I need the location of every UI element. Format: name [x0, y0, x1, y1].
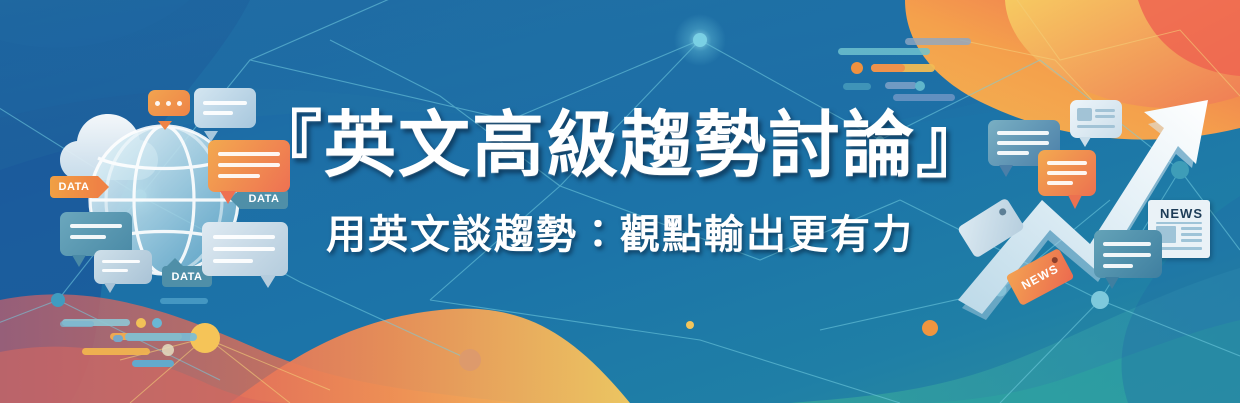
data-tag-bottom-label: DATA [172, 271, 203, 283]
speech-bubble-light-bottom [202, 222, 288, 276]
speech-bubble-orange-large [208, 140, 290, 192]
speech-bubble-dots [148, 90, 190, 116]
news-tag-label: NEWS [1019, 261, 1061, 292]
global-data-illustration: DATA DATA DATA [32, 84, 300, 316]
data-tag-left: DATA [50, 176, 98, 198]
data-tag-left-point [98, 176, 109, 198]
data-tag-right-label: DATA [249, 193, 280, 205]
speech-bubble-light-top [194, 88, 256, 128]
trend-news-illustration: NEWS NEWS [952, 82, 1240, 320]
speech-bubble-small-left [94, 250, 152, 284]
speech-bubble-orange-mid [1038, 150, 1096, 196]
data-tag-bottom-point [166, 258, 184, 267]
speech-bubble-teal-lower [1094, 230, 1162, 278]
promo-banner: DATA DATA DATA [0, 0, 1240, 403]
article-card-icon [1070, 100, 1122, 138]
data-tag-right: DATA [240, 189, 288, 209]
newspaper-headline: NEWS [1160, 206, 1203, 221]
data-tag-left-label: DATA [59, 181, 90, 193]
